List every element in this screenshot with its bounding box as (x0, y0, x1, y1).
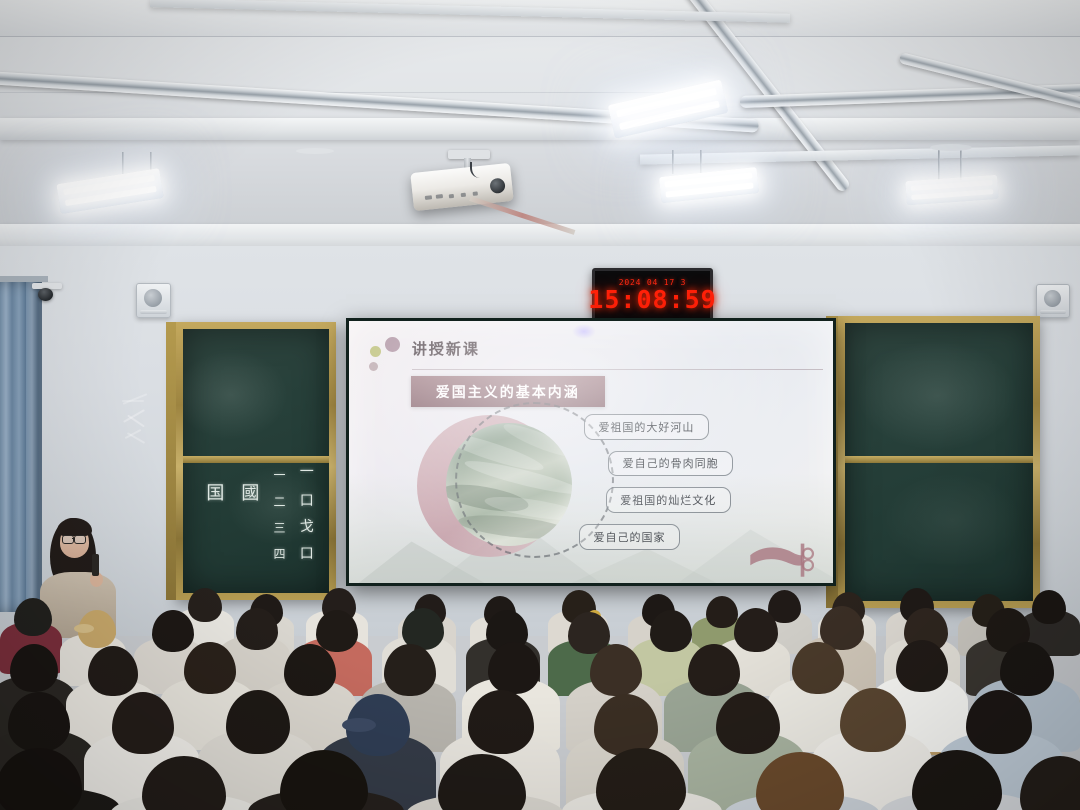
lamp-hanger (672, 150, 674, 174)
security-camera (38, 288, 53, 301)
student-head (8, 692, 70, 752)
slide-header-label: 讲授新课 (412, 338, 480, 359)
audience-area (0, 580, 1080, 810)
student-head (896, 640, 948, 692)
projector-lens (489, 178, 505, 194)
wall-speaker-left (136, 283, 171, 318)
student-head (1032, 590, 1066, 624)
teacher-glasses-bridge (72, 538, 75, 539)
projector-light-artifact (572, 324, 596, 340)
ceiling-mount-disc (296, 148, 334, 154)
classroom-photo: 2024 04 17 3 15:08:59 国 國 一 一 二 口 三 戈 四 … (0, 0, 1080, 810)
blackboard-frame-edge (166, 322, 176, 600)
slide-content: 讲授新课 爱国主义的基本内涵 爱祖国的大好河山 爱自己的骨肉同胞 爱祖国的灿烂文… (349, 321, 833, 583)
chalk-stroke-num-2: 二 (274, 493, 286, 510)
slide-header-rule (412, 369, 823, 370)
blackboard-left-surface: 国 國 一 一 二 口 三 戈 四 口 (183, 329, 329, 593)
ceiling-beam (0, 118, 1080, 140)
student-head (10, 644, 58, 692)
ceiling-seam (0, 36, 1080, 37)
student-head (14, 598, 52, 636)
handheld-microphone (92, 554, 99, 576)
lamp-hanger (938, 150, 940, 180)
student-head (112, 692, 174, 754)
projection-screen: 讲授新课 爱国主义的基本内涵 爱祖国的大好河山 爱自己的骨肉同胞 爱祖国的灿烂文… (346, 318, 836, 586)
wall-speaker-right (1036, 284, 1070, 318)
chalk-character-2: 國 (241, 479, 259, 505)
teacher-glasses-right (74, 535, 86, 544)
student-head (1000, 642, 1054, 696)
chalk-stroke-glyph-3: 戈 (300, 516, 314, 536)
student-head (650, 610, 692, 652)
ceiling-mount-disc (930, 144, 972, 151)
logo-dot-mauve-small (369, 362, 378, 371)
chalk-stroke-num-4: 四 (274, 545, 286, 562)
student-head (792, 642, 844, 694)
logo-dot-olive (370, 346, 381, 357)
teacher-glasses-left (62, 535, 74, 544)
student-head (384, 644, 436, 696)
chalk-stroke-glyph-4: 口 (300, 543, 314, 563)
projector-cable (470, 162, 494, 178)
chalk-stroke-num-3: 三 (274, 519, 286, 536)
blackboard-right-surface (845, 323, 1033, 601)
student-head (284, 644, 336, 696)
slide-title-banner: 爱国主义的基本内涵 (411, 376, 605, 407)
student-head (590, 644, 642, 696)
student-head (716, 692, 780, 754)
student-head (152, 610, 194, 652)
slide-box-3: 爱祖国的灿烂文化 (606, 487, 731, 513)
student-head (488, 642, 540, 694)
chalk-character-1: 国 (206, 479, 224, 505)
lamp-hanger (700, 150, 702, 174)
student-head (594, 694, 658, 756)
logo-dot-mauve-large (385, 337, 400, 352)
digital-wall-clock: 2024 04 17 3 15:08:59 (592, 268, 713, 322)
clock-time: 15:08:59 (588, 287, 716, 312)
slide-box-4: 爱自己的国家 (579, 524, 680, 550)
student-head (236, 608, 278, 650)
ceiling-seam (0, 92, 700, 93)
slide-box-1: 爱祖国的大好河山 (584, 414, 709, 440)
blackboard-left: 国 國 一 一 二 口 三 戈 四 口 (176, 322, 336, 600)
chalk-stroke-num-1: 一 (274, 466, 286, 483)
student-head (88, 646, 138, 696)
flag-decoration-icon (746, 536, 818, 580)
student-head (734, 608, 778, 652)
student-head (316, 610, 358, 652)
teacher-hair-top (57, 518, 92, 536)
student-head (706, 596, 738, 628)
cap-brim (342, 718, 376, 732)
student-head (184, 642, 236, 694)
student-head (188, 588, 222, 622)
slide-box-2: 爱自己的骨肉同胞 (608, 451, 733, 477)
lamp-hanger (960, 150, 962, 180)
chalk-stroke-glyph-1: 一 (300, 461, 314, 481)
cap-brim (74, 624, 94, 633)
chalk-stroke-glyph-2: 口 (300, 490, 314, 510)
student-head (688, 644, 740, 696)
blackboard-right (838, 316, 1040, 608)
window-curtain[interactable] (0, 282, 42, 612)
